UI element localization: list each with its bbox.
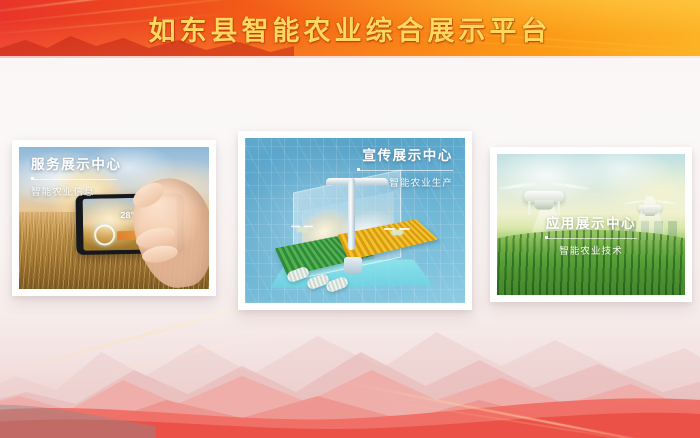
page-title: 如东县智能农业综合展示平台 (0, 0, 700, 56)
card-caption-promotion: 宣传展示中心 智能农业生产 (357, 148, 453, 189)
rotor-blade (654, 199, 676, 204)
header-banner: 如东县智能农业综合展示平台 (0, 0, 700, 56)
rotor-blade (551, 182, 589, 190)
divider-dot (31, 177, 34, 180)
card-subtitle: 智能农业生产 (357, 175, 453, 189)
card-application-center[interactable]: 应用展示中心 智能农业技术 (490, 147, 692, 302)
card-title: 服务展示中心 (31, 157, 122, 174)
caption-divider (357, 170, 453, 171)
rotor-blade (498, 182, 536, 190)
banner-underline (0, 56, 700, 58)
drone-body (391, 230, 403, 235)
card-image-frame: 应用展示中心 智能农业技术 (497, 154, 685, 295)
card-service-center[interactable]: 28° 服务展示中心 智能农业信息 (12, 140, 216, 296)
card-image-frame: 28° 服务展示中心 智能农业信息 (19, 147, 209, 289)
card-subtitle: 智能农业技术 (545, 243, 637, 257)
landing-leg (640, 211, 641, 219)
landing-leg (658, 211, 659, 219)
divider-dot (357, 168, 360, 171)
divider-dot (545, 236, 548, 239)
hud-ring-icon (94, 224, 115, 245)
lamp-base (344, 257, 362, 273)
card-caption-service: 服务展示中心 智能农业信息 (31, 157, 122, 198)
caption-divider (31, 179, 117, 180)
card-caption-application: 应用展示中心 智能农业技术 (545, 216, 637, 257)
drone-icon (291, 225, 313, 234)
spray-tank (534, 201, 553, 210)
card-title: 应用展示中心 (545, 216, 637, 233)
spray-tank (644, 210, 655, 216)
card-subtitle: 智能农业信息 (31, 184, 122, 198)
drone-body (297, 227, 307, 231)
drone-icon (503, 179, 585, 215)
lamp-pole (348, 178, 355, 250)
landing-leg (557, 202, 559, 216)
rotor-blade (623, 199, 645, 204)
card-title: 宣传展示中心 (357, 148, 453, 165)
app-root: 如东县智能农业综合展示平台 28° (0, 0, 700, 438)
caption-divider (545, 238, 637, 239)
card-promotion-center[interactable]: 宣传展示中心 智能农业生产 (238, 131, 472, 310)
drone-icon (626, 197, 674, 218)
landing-leg (528, 202, 530, 216)
card-image-frame: 宣传展示中心 智能农业生产 (245, 138, 465, 303)
drone-icon (384, 227, 410, 237)
